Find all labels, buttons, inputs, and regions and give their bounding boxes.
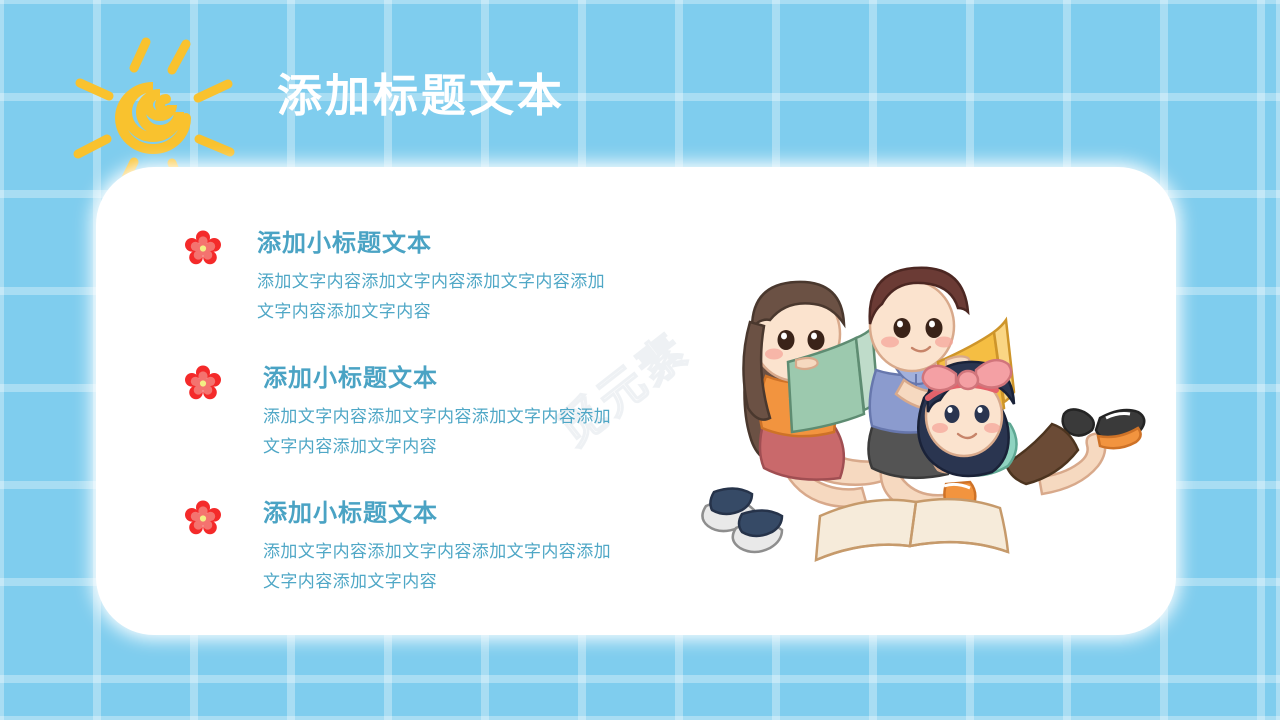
block-text: 添加文字内容添加文字内容添加文字内容添加 文字内容添加文字内容 bbox=[257, 267, 665, 327]
content-block: 添加小标题文本 添加文字内容添加文字内容添加文字内容添加 文字内容添加文字内容 bbox=[185, 228, 665, 327]
block-text-line: 文字内容添加文字内容 bbox=[263, 432, 665, 462]
content-list: 添加小标题文本 添加文字内容添加文字内容添加文字内容添加 文字内容添加文字内容 bbox=[185, 228, 665, 597]
flower-icon bbox=[185, 500, 221, 536]
flower-icon bbox=[185, 365, 221, 401]
content-block: 添加小标题文本 添加文字内容添加文字内容添加文字内容添加 文字内容添加文字内容 bbox=[185, 498, 665, 597]
slide-root: 添加标题文本 觅元素 bbox=[0, 0, 1280, 720]
content-block: 添加小标题文本 添加文字内容添加文字内容添加文字内容添加 文字内容添加文字内容 bbox=[185, 363, 665, 462]
block-heading: 添加小标题文本 bbox=[263, 498, 665, 530]
block-text: 添加文字内容添加文字内容添加文字内容添加 文字内容添加文字内容 bbox=[263, 402, 665, 462]
block-text-line: 添加文字内容添加文字内容添加文字内容添加 bbox=[263, 537, 665, 567]
block-heading: 添加小标题文本 bbox=[257, 228, 665, 260]
block-text-line: 文字内容添加文字内容 bbox=[257, 297, 665, 327]
block-text-line: 添加文字内容添加文字内容添加文字内容添加 bbox=[263, 402, 665, 432]
flower-icon bbox=[185, 230, 221, 266]
page-title: 添加标题文本 bbox=[277, 69, 565, 123]
block-text-line: 添加文字内容添加文字内容添加文字内容添加 bbox=[257, 267, 665, 297]
children-reading-illustration bbox=[690, 248, 1160, 578]
block-text-line: 文字内容添加文字内容 bbox=[263, 567, 665, 597]
block-heading: 添加小标题文本 bbox=[263, 363, 665, 395]
block-text: 添加文字内容添加文字内容添加文字内容添加 文字内容添加文字内容 bbox=[263, 537, 665, 597]
